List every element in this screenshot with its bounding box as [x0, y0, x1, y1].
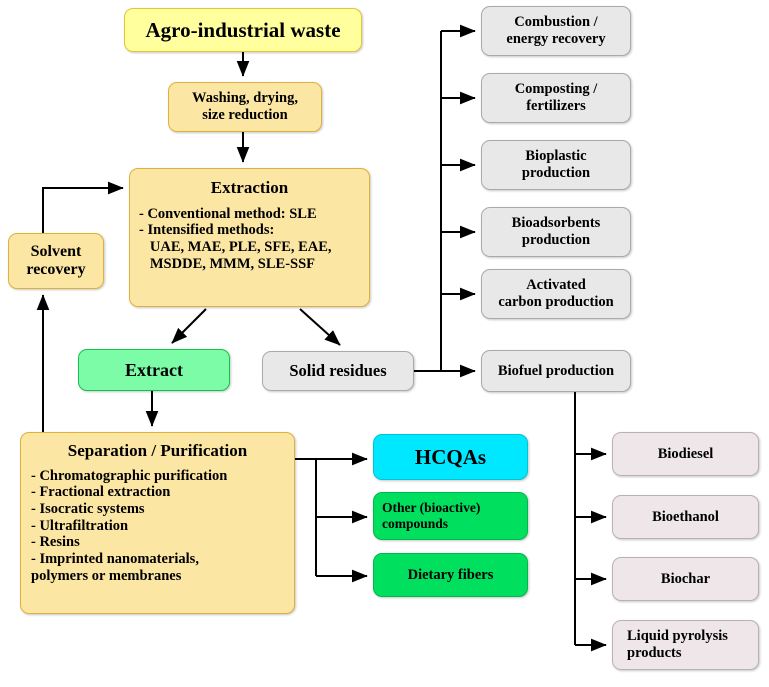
node-label-line-1: Washing, drying, — [192, 90, 298, 107]
node-label-line-1: Activated — [526, 277, 586, 294]
node-label-line-2: size reduction — [202, 107, 288, 124]
node-biodiesel[interactable]: Biodiesel — [612, 432, 759, 476]
list-item: - Isocratic systems — [31, 501, 284, 518]
node-label-line-1: Other (bioactive) — [382, 500, 480, 516]
node-solvent-recovery[interactable]: Solvent recovery — [8, 233, 104, 289]
node-label-line-2: recovery — [26, 261, 85, 279]
node-label: Solid residues — [289, 362, 386, 381]
list-item: - Intensified methods: — [139, 222, 360, 239]
list-item: - Ultrafiltration — [31, 518, 284, 535]
node-label-line-2: production — [522, 165, 590, 182]
node-title: Extraction — [211, 178, 288, 198]
flowchart-canvas: Agro-industrial waste Washing, drying, s… — [0, 0, 769, 687]
node-label: Agro-industrial waste — [145, 18, 340, 42]
list-item: - Conventional method: SLE — [139, 206, 360, 223]
node-washing-drying-size-reduction[interactable]: Washing, drying, size reduction — [168, 82, 322, 132]
edge-extraction-to-solid — [300, 309, 340, 345]
list-item: - Fractional extraction — [31, 484, 284, 501]
node-agro-industrial-waste[interactable]: Agro-industrial waste — [124, 8, 362, 52]
edge-separation-trunk — [295, 459, 316, 576]
node-label-line-2: compounds — [382, 516, 448, 532]
node-detail-list: - Chromatographic purification - Fractio… — [31, 468, 284, 585]
list-item: UAE, MAE, PLE, SFE, EAE, — [139, 239, 360, 256]
node-label: Biochar — [661, 571, 710, 588]
list-item: - Imprinted nanomaterials, — [31, 551, 284, 568]
node-detail-list: - Conventional method: SLE - Intensified… — [139, 206, 360, 273]
node-label: Bioethanol — [652, 509, 719, 526]
list-item: - Chromatographic purification — [31, 468, 284, 485]
node-hcqas[interactable]: HCQAs — [373, 434, 528, 480]
edge-extraction-to-extract — [172, 309, 206, 343]
node-title: Separation / Purification — [68, 441, 247, 461]
node-bioplastic-production[interactable]: Bioplastic production — [481, 140, 631, 190]
node-label-line-2: products — [613, 645, 758, 662]
node-label-line-1: Bioadsorbents — [512, 215, 601, 232]
node-label-line-1: Composting / — [515, 81, 598, 98]
node-separation-purification[interactable]: Separation / Purification - Chromatograp… — [20, 432, 295, 614]
node-label: Biodiesel — [658, 446, 714, 463]
node-label-line-2: production — [522, 232, 590, 249]
list-item: - Resins — [31, 534, 284, 551]
node-bioadsorbents-production[interactable]: Bioadsorbents production — [481, 207, 631, 257]
node-label-line-1: Liquid pyrolysis — [613, 628, 758, 645]
node-combustion-energy-recovery[interactable]: Combustion / energy recovery — [481, 6, 631, 56]
edge-solvent-to-extraction — [43, 188, 123, 233]
node-extract[interactable]: Extract — [78, 349, 230, 391]
node-bioethanol[interactable]: Bioethanol — [612, 495, 759, 539]
node-dietary-fibers[interactable]: Dietary fibers — [373, 553, 528, 597]
node-label: Biofuel production — [498, 363, 614, 380]
node-label-line-2: energy recovery — [506, 31, 605, 48]
node-liquid-pyrolysis-products[interactable]: Liquid pyrolysis products — [612, 620, 759, 670]
node-biofuel-production[interactable]: Biofuel production — [481, 350, 631, 392]
node-label: Dietary fibers — [408, 567, 494, 584]
node-biochar[interactable]: Biochar — [612, 557, 759, 601]
node-other-bioactive-compounds[interactable]: Other (bioactive) compounds — [373, 492, 528, 540]
node-label: HCQAs — [415, 445, 486, 469]
node-label-line-2: carbon production — [498, 294, 613, 311]
node-activated-carbon-production[interactable]: Activated carbon production — [481, 269, 631, 319]
node-label-line-1: Solvent — [31, 243, 82, 261]
node-composting-fertilizers[interactable]: Composting / fertilizers — [481, 73, 631, 123]
node-label: Extract — [125, 360, 183, 381]
node-extraction[interactable]: Extraction - Conventional method: SLE - … — [129, 168, 370, 307]
edge-solid-trunk — [414, 31, 441, 371]
node-label-line-2: fertilizers — [526, 98, 586, 115]
list-item: MSDDE, MMM, SLE-SSF — [139, 256, 360, 273]
node-label-line-1: Bioplastic — [525, 148, 586, 165]
list-item: polymers or membranes — [31, 568, 284, 585]
node-label-line-1: Combustion / — [514, 14, 597, 31]
node-solid-residues[interactable]: Solid residues — [262, 351, 414, 391]
